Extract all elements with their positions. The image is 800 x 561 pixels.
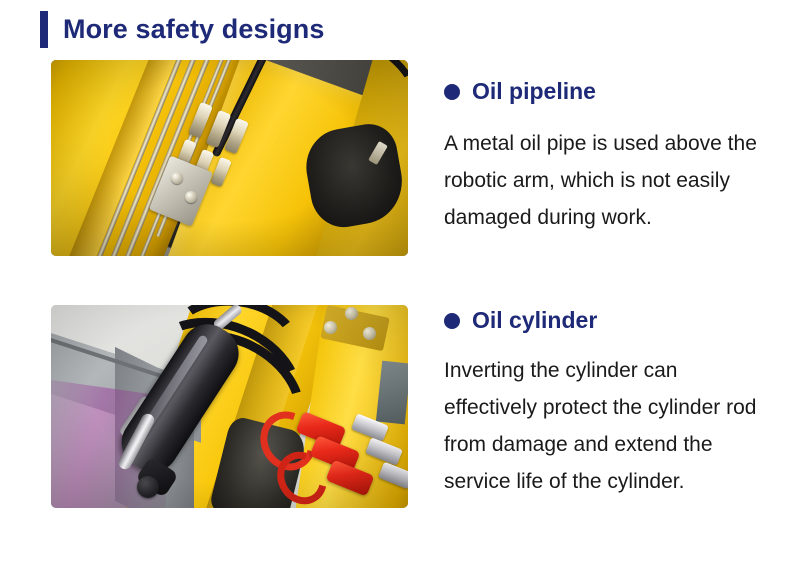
feature-block-oil-cylinder: Oil cylinder Inverting the cylinder can … [51, 305, 763, 508]
page-header: More safety designs [40, 11, 325, 48]
accent-bar [40, 11, 48, 48]
feature-image-oil-cylinder [51, 305, 408, 508]
filled-circle-bullet-icon [444, 84, 460, 100]
feature-body: A metal oil pipe is used above the robot… [444, 125, 762, 236]
feature-heading-row: Oil pipeline [444, 80, 762, 103]
page-title: More safety designs [63, 16, 325, 43]
feature-image-oil-pipeline [51, 60, 408, 256]
feature-block-oil-pipeline: Oil pipeline A metal oil pipe is used ab… [51, 60, 763, 256]
feature-body: Inverting the cylinder can effectively p… [444, 352, 762, 500]
photo-vignette [51, 60, 408, 256]
feature-heading-row: Oil cylinder [444, 309, 762, 332]
feature-text-column: Oil pipeline A metal oil pipe is used ab… [444, 60, 762, 236]
feature-heading: Oil cylinder [472, 309, 597, 332]
filled-circle-bullet-icon [444, 313, 460, 329]
feature-heading: Oil pipeline [472, 80, 596, 103]
photo-vignette [51, 305, 408, 508]
feature-text-column: Oil cylinder Inverting the cylinder can … [444, 305, 762, 500]
